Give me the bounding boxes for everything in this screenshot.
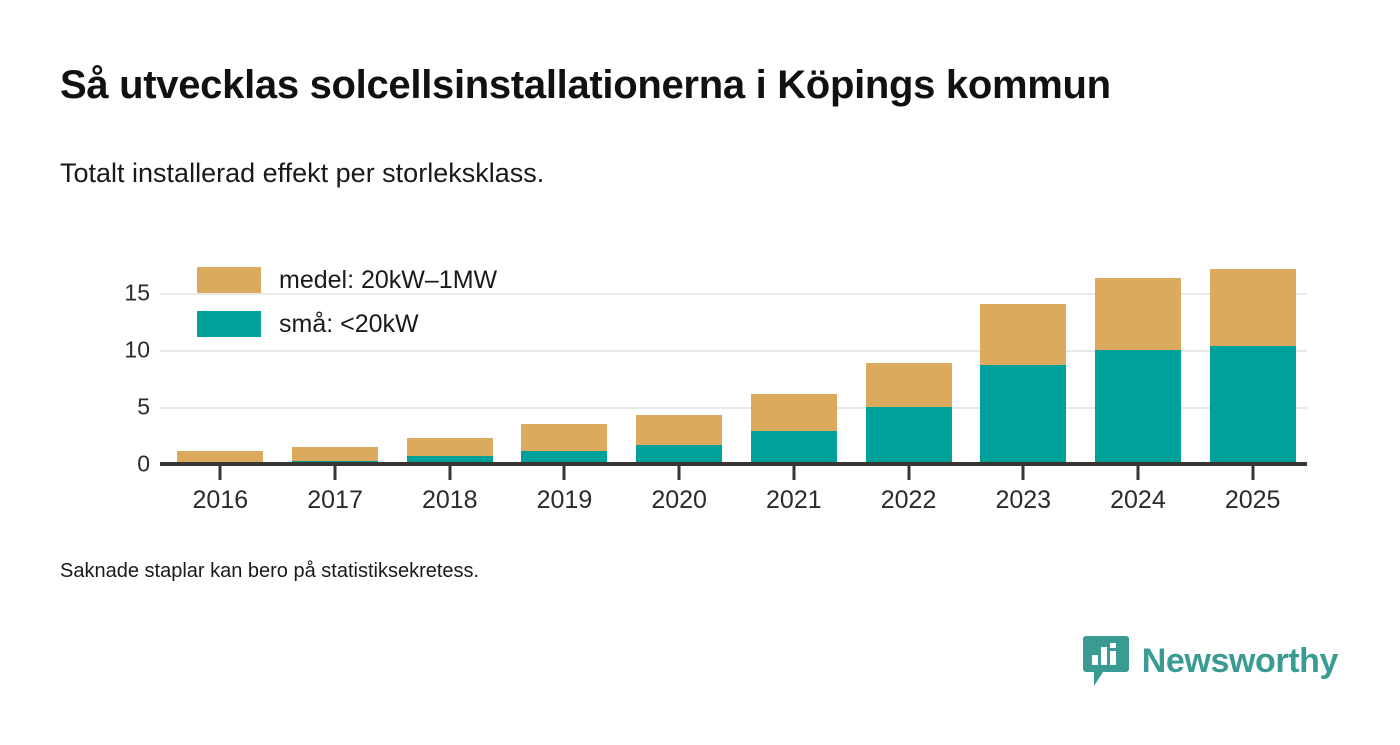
x-axis-tick-mark — [563, 466, 566, 480]
bar-group[interactable] — [980, 304, 1066, 464]
x-axis-tick-label: 2025 — [1183, 486, 1323, 515]
legend-item-medel[interactable]: medel: 20kW–1MW — [197, 258, 497, 302]
x-axis-tick-mark — [907, 466, 910, 480]
bar-group[interactable] — [636, 415, 722, 464]
y-axis-tick-label: 5 — [90, 393, 150, 420]
chart-footnote: Saknade staplar kan bero på statistiksek… — [60, 560, 479, 583]
y-axis-tick-label: 0 — [90, 451, 150, 478]
bar-segment-sma[interactable] — [1210, 346, 1296, 464]
legend-swatch-medel — [197, 267, 261, 293]
bar-segment-medel[interactable] — [177, 451, 263, 461]
legend-label-medel: medel: 20kW–1MW — [279, 266, 497, 295]
x-axis-tick-mark — [448, 466, 451, 480]
bar-group[interactable] — [1095, 278, 1181, 464]
page-title: Så utvecklas solcellsinstallationerna i … — [60, 62, 1340, 108]
x-axis-tick-mark — [1251, 466, 1254, 480]
y-axis-tick-label: 15 — [90, 279, 150, 306]
bar-segment-medel[interactable] — [1210, 269, 1296, 347]
bar-group[interactable] — [407, 438, 493, 464]
bar-segment-medel[interactable] — [866, 363, 952, 406]
bar-segment-medel[interactable] — [636, 415, 722, 445]
x-axis-tick-mark — [1136, 466, 1139, 480]
x-axis-tick-mark — [678, 466, 681, 480]
bar-segment-sma[interactable] — [866, 407, 952, 464]
bar-group[interactable] — [866, 363, 952, 464]
x-axis-line — [160, 462, 1307, 466]
x-axis-tick-mark — [334, 466, 337, 480]
bar-segment-medel[interactable] — [980, 304, 1066, 365]
bar-group[interactable] — [751, 394, 837, 464]
legend-label-sma: små: <20kW — [279, 310, 419, 339]
chart-page: Så utvecklas solcellsinstallationerna i … — [0, 0, 1400, 745]
newsworthy-logo[interactable]: Newsworthy — [1083, 636, 1338, 686]
bar-segment-medel[interactable] — [407, 438, 493, 456]
bar-segment-sma[interactable] — [1095, 350, 1181, 464]
bar-segment-medel[interactable] — [751, 394, 837, 431]
chart-subtitle: Totalt installerad effekt per storlekskl… — [60, 157, 1340, 189]
bar-segment-medel[interactable] — [521, 424, 607, 451]
legend-item-sma[interactable]: små: <20kW — [197, 302, 497, 346]
x-axis-tick-mark — [792, 466, 795, 480]
x-axis-tick-mark — [1022, 466, 1025, 480]
bar-segment-sma[interactable] — [751, 431, 837, 464]
bar-segment-medel[interactable] — [292, 447, 378, 461]
bar-segment-sma[interactable] — [980, 365, 1066, 464]
chart-legend: medel: 20kW–1MWsmå: <20kW — [197, 258, 497, 346]
x-axis-tick-mark — [219, 466, 222, 480]
legend-swatch-sma — [197, 311, 261, 337]
bar-group[interactable] — [1210, 269, 1296, 464]
bar-group[interactable] — [521, 424, 607, 464]
bar-segment-medel[interactable] — [1095, 278, 1181, 350]
y-axis-tick-label: 10 — [90, 336, 150, 363]
bar-chart-speech-bubble-icon — [1083, 636, 1129, 686]
logo-wordmark: Newsworthy — [1142, 642, 1338, 681]
